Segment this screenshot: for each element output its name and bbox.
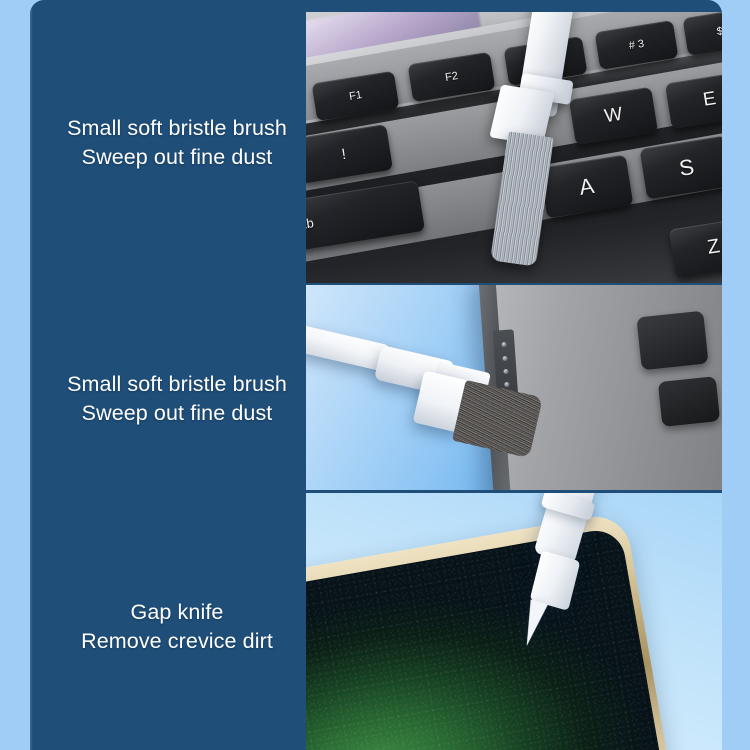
key-label: W [603, 104, 624, 129]
key-label: tab [306, 215, 315, 233]
caption-line-2: Remove crevice dirt [38, 627, 316, 656]
key-label: # 3 [628, 37, 645, 51]
feature-card: F1 F2 @ 2 # 3 $ 4 ! W E [30, 0, 722, 750]
device-key [657, 376, 720, 427]
grille-hole [504, 382, 509, 387]
caption-line-2: Sweep out fine dust [38, 399, 316, 428]
key-dollar-4: $ 4 [682, 12, 722, 56]
device-key [636, 310, 708, 370]
key-label: F2 [444, 70, 459, 84]
key-label: A [577, 173, 596, 201]
caption-line-2: Sweep out fine dust [38, 143, 316, 172]
grille-hole [501, 342, 506, 347]
photo-port-brush [306, 285, 722, 490]
caption-line-1: Gap knife [131, 600, 224, 624]
caption-brush-keyboard: Small soft bristle brush Sweep out fine … [38, 114, 316, 172]
key-label: S [677, 154, 696, 182]
caption-line-1: Small soft bristle brush [67, 116, 287, 140]
grille-hole [502, 356, 507, 361]
photo-gap-knife [306, 493, 722, 750]
key-label: Z [706, 235, 722, 260]
key-label: F1 [349, 89, 364, 103]
key-label: ! [340, 146, 347, 163]
key-label: $ 4 [716, 24, 722, 38]
caption-brush-port: Small soft bristle brush Sweep out fine … [38, 370, 316, 428]
product-feature-image: F1 F2 @ 2 # 3 $ 4 ! W E [0, 0, 750, 750]
caption-gap-knife: Gap knife Remove crevice dirt [38, 598, 316, 656]
key-label: E [702, 88, 718, 112]
photo-keyboard-brush: F1 F2 @ 2 # 3 $ 4 ! W E [306, 12, 722, 283]
grille-hole [503, 369, 508, 374]
caption-line-1: Small soft bristle brush [67, 372, 287, 396]
